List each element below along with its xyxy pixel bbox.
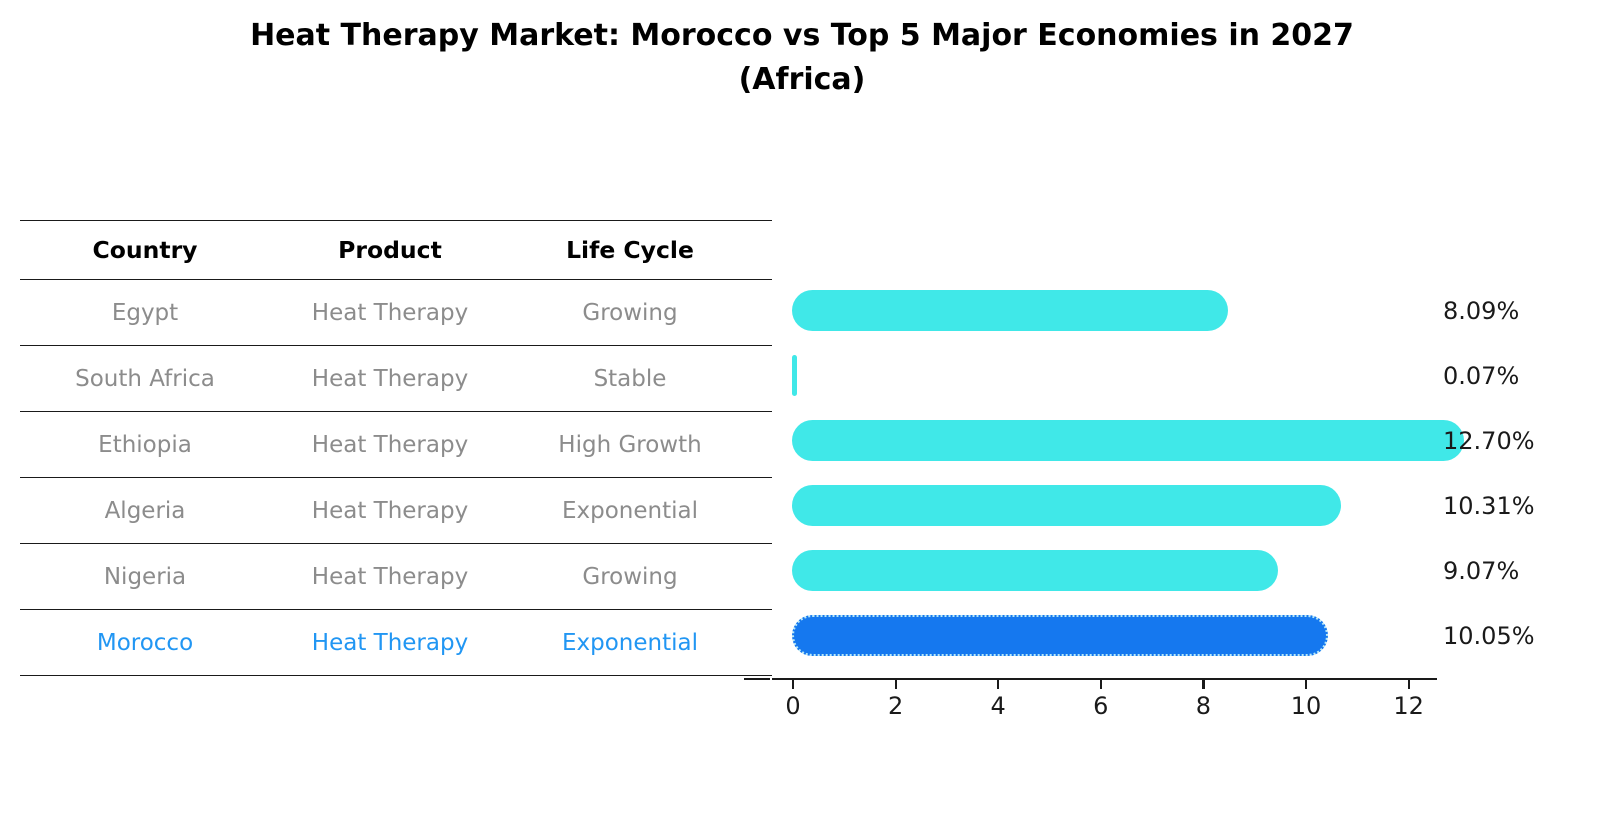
x-axis-tick-label: 8	[1196, 692, 1211, 720]
value-label: 8.09%	[1443, 297, 1519, 325]
bars-plot-area	[772, 220, 1452, 678]
cell-life-cycle: Growing	[510, 564, 750, 590]
column-header-life-cycle: Life Cycle	[510, 236, 750, 264]
cell-life-cycle: High Growth	[510, 432, 750, 458]
value-label-row: 10.31%	[1443, 473, 1603, 538]
x-axis-tick-label: 12	[1393, 692, 1424, 720]
bar-row	[772, 278, 1452, 343]
axis-left-stub	[744, 678, 770, 680]
value-label-row: 10.05%	[1443, 603, 1603, 668]
chart-title-line-2: (Africa)	[0, 58, 1604, 102]
cell-country: Nigeria	[20, 564, 270, 590]
bar-value-labels: 8.09% 0.07% 12.70% 10.31% 9.07% 10.05%	[1443, 220, 1603, 668]
x-axis-tick-label: 6	[1093, 692, 1108, 720]
cell-country: Morocco	[20, 630, 270, 656]
cell-country: South Africa	[20, 366, 270, 392]
bar-nigeria	[792, 550, 1278, 591]
x-axis-tick-label: 4	[991, 692, 1006, 720]
chart-title: Heat Therapy Market: Morocco vs Top 5 Ma…	[0, 14, 1604, 101]
country-table: Country Product Life Cycle Egypt Heat Th…	[20, 220, 772, 676]
cell-life-cycle: Exponential	[510, 630, 750, 656]
bar-egypt	[792, 290, 1228, 331]
x-axis-tick	[997, 678, 999, 689]
x-axis-tick-label: 10	[1291, 692, 1322, 720]
x-axis: 024681012	[772, 678, 1437, 738]
table-row: Egypt Heat Therapy Growing	[20, 279, 772, 345]
cell-product: Heat Therapy	[270, 498, 510, 524]
x-axis-line	[772, 678, 1437, 680]
column-header-country: Country	[20, 236, 270, 264]
value-label-spacer	[1443, 220, 1603, 278]
cell-product: Heat Therapy	[270, 366, 510, 392]
x-axis-tick-label: 0	[785, 692, 800, 720]
value-label: 10.31%	[1443, 492, 1535, 520]
value-label: 10.05%	[1443, 622, 1535, 650]
bar-south-africa	[792, 355, 797, 396]
bar-row-spacer	[772, 220, 1452, 278]
value-label: 12.70%	[1443, 427, 1535, 455]
bar-row	[772, 343, 1452, 408]
table-header-row: Country Product Life Cycle	[20, 220, 772, 279]
table-row: Ethiopia Heat Therapy High Growth	[20, 411, 772, 477]
cell-country: Egypt	[20, 300, 270, 326]
cell-product: Heat Therapy	[270, 300, 510, 326]
x-axis-tick	[895, 678, 897, 689]
value-label: 9.07%	[1443, 557, 1519, 585]
cell-product: Heat Therapy	[270, 432, 510, 458]
table-row: Nigeria Heat Therapy Growing	[20, 543, 772, 609]
x-axis-tick	[1408, 678, 1410, 689]
table-row: South Africa Heat Therapy Stable	[20, 345, 772, 411]
table-row-highlighted: Morocco Heat Therapy Exponential	[20, 609, 772, 676]
cell-life-cycle: Exponential	[510, 498, 750, 524]
cell-country: Algeria	[20, 498, 270, 524]
column-header-product: Product	[270, 236, 510, 264]
cell-product: Heat Therapy	[270, 564, 510, 590]
value-label-row: 8.09%	[1443, 278, 1603, 343]
bar-row	[772, 408, 1452, 473]
x-axis-tick-label: 2	[888, 692, 903, 720]
x-axis-tick	[792, 678, 794, 689]
cell-life-cycle: Stable	[510, 366, 750, 392]
value-label-row: 0.07%	[1443, 343, 1603, 408]
bar-row	[772, 603, 1452, 668]
bar-ethiopia	[792, 420, 1464, 461]
x-axis-tick	[1202, 678, 1204, 689]
x-axis-tick	[1305, 678, 1307, 689]
cell-life-cycle: Growing	[510, 300, 750, 326]
x-axis-tick	[1100, 678, 1102, 689]
value-label-row: 12.70%	[1443, 408, 1603, 473]
value-label: 0.07%	[1443, 362, 1519, 390]
cell-product: Heat Therapy	[270, 630, 510, 656]
value-label-row: 9.07%	[1443, 538, 1603, 603]
chart-figure: Heat Therapy Market: Morocco vs Top 5 Ma…	[0, 0, 1604, 823]
chart-title-line-1: Heat Therapy Market: Morocco vs Top 5 Ma…	[0, 14, 1604, 58]
bar-row	[772, 473, 1452, 538]
table-row: Algeria Heat Therapy Exponential	[20, 477, 772, 543]
bar-morocco	[792, 615, 1328, 656]
bar-algeria	[792, 485, 1341, 526]
bar-row	[772, 538, 1452, 603]
cell-country: Ethiopia	[20, 432, 270, 458]
